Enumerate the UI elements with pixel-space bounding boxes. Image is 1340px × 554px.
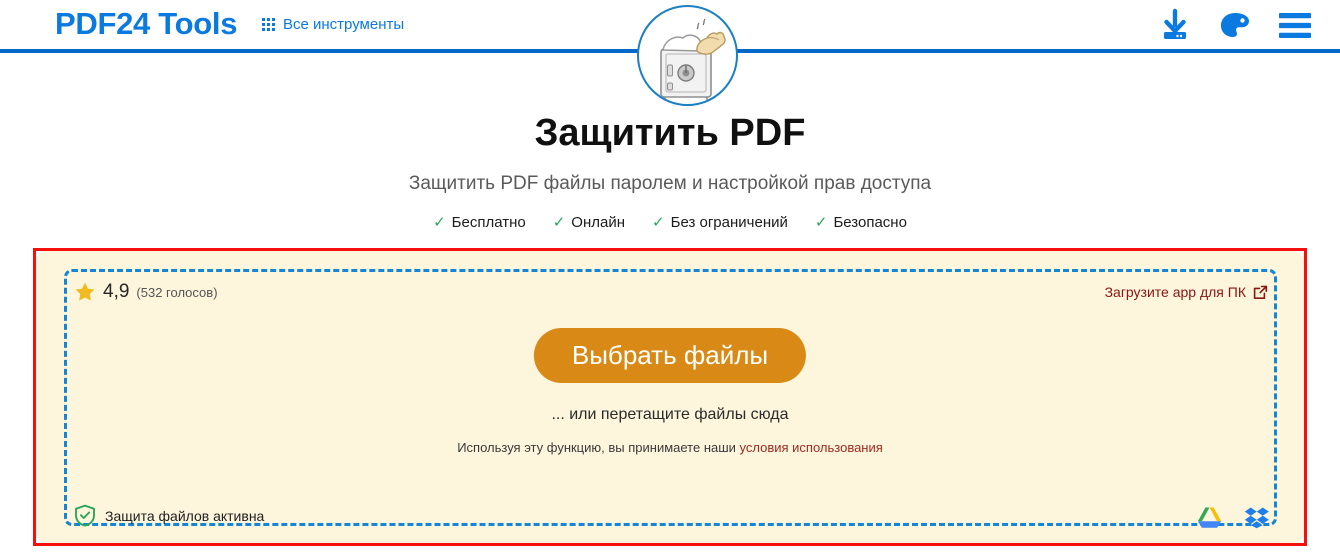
rating-count: (532 голосов): [136, 285, 217, 300]
safe-vault-icon: [639, 7, 736, 104]
grid-icon: [262, 18, 275, 31]
drag-drop-hint: ... или перетащите файлы сюда: [36, 406, 1304, 424]
check-icon: ✓: [815, 213, 828, 231]
header-icon-group: [1158, 8, 1312, 42]
drop-zone-dashed-border: [64, 269, 1277, 526]
feature-list: ✓ Бесплатно ✓ Онлайн ✓ Без ограничений ✓…: [0, 213, 1340, 231]
rating-value: 4,9: [103, 281, 129, 303]
feature-item: ✓ Без ограничений: [652, 213, 788, 231]
file-protection-label: Защита файлов активна: [105, 508, 264, 524]
feature-label: Безопасно: [833, 214, 907, 231]
site-header: PDF24 Tools Все инструменты: [0, 0, 1340, 53]
palette-icon[interactable]: [1218, 8, 1252, 42]
external-link-icon: [1253, 285, 1268, 300]
check-icon: ✓: [652, 213, 665, 231]
choose-files-button[interactable]: Выбрать файлы: [534, 328, 806, 383]
rating: 4,9 (532 голосов): [74, 281, 218, 303]
all-tools-label: Все инструменты: [283, 16, 404, 33]
page-subtitle: Защитить PDF файлы паролем и настройкой …: [0, 173, 1340, 195]
highlight-annotation-box: 4,9 (532 голосов) Загрузите app для ПК В…: [33, 248, 1307, 546]
check-icon: ✓: [553, 213, 566, 231]
hamburger-menu-icon[interactable]: [1278, 12, 1312, 39]
brand-logo[interactable]: PDF24 Tools: [55, 6, 237, 42]
feature-item: ✓ Безопасно: [815, 213, 907, 231]
feature-item: ✓ Онлайн: [553, 213, 625, 231]
terms-of-use-link[interactable]: условия использования: [740, 440, 883, 455]
check-icon: ✓: [433, 213, 446, 231]
cloud-service-group: [1197, 506, 1270, 529]
terms-prefix: Используя эту функцию, вы принимаете наш…: [457, 440, 739, 455]
download-icon[interactable]: [1158, 8, 1192, 42]
feature-item: ✓ Бесплатно: [433, 213, 526, 231]
google-drive-icon[interactable]: [1197, 506, 1222, 529]
download-desktop-app-link[interactable]: Загрузите app для ПК: [1105, 284, 1268, 300]
download-desktop-app-label: Загрузите app для ПК: [1105, 284, 1246, 300]
dropbox-icon[interactable]: [1244, 506, 1270, 529]
feature-label: Онлайн: [571, 214, 625, 231]
page-title: Защитить PDF: [0, 112, 1340, 155]
star-icon: [74, 281, 96, 303]
file-protection-status: Защита файлов активна: [74, 504, 264, 527]
feature-label: Бесплатно: [452, 214, 526, 231]
shield-check-icon: [74, 504, 96, 527]
file-drop-panel[interactable]: 4,9 (532 голосов) Загрузите app для ПК В…: [36, 251, 1304, 543]
terms-notice: Используя эту функцию, вы принимаете наш…: [36, 440, 1304, 455]
all-tools-link[interactable]: Все инструменты: [262, 16, 404, 33]
tool-badge: [637, 5, 738, 106]
page-root: PDF24 Tools Все инструменты: [0, 0, 1340, 554]
feature-label: Без ограничений: [671, 214, 788, 231]
